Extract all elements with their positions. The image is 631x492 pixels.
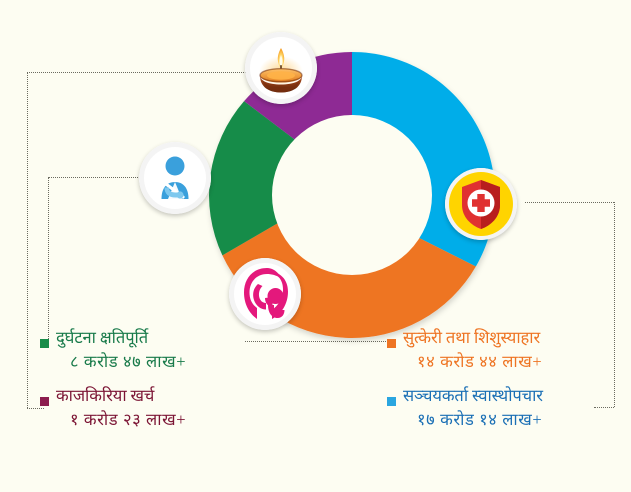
infographic-root: दुर्घटना क्षतिपूर्ति ८ करोड ४७ लाख+ काजक… — [0, 0, 631, 492]
health-shield-cross-icon — [445, 168, 517, 240]
legend-bullet-maternity — [387, 339, 396, 348]
legend-value-maternity: १४ करोड ४४ लाख+ — [403, 354, 542, 371]
health-shield-badge[interactable] — [445, 168, 517, 240]
injured-worker-badge[interactable] — [139, 142, 211, 214]
mother-and-child-icon — [229, 258, 301, 330]
legend-text-maternity: सुत्केरी तथा शिशुस्याहार १४ करोड ४४ लाख+ — [403, 330, 542, 370]
legend-bullet-funeral — [40, 397, 49, 406]
legend-text-accident: दुर्घटना क्षतिपूर्ति ८ करोड ४७ लाख+ — [56, 330, 186, 370]
legend-item-funeral[interactable]: काजकिरिया खर्च १ करोड २३ लाख+ — [40, 388, 186, 428]
legend-item-accident[interactable]: दुर्घटना क्षतिपूर्ति ८ करोड ४७ लाख+ — [40, 330, 186, 370]
legend-text-health: सञ्चयकर्ता स्वास्थोपचार १७ करोड १४ लाख+ — [403, 388, 543, 428]
legend-value-health: १७ करोड १४ लाख+ — [403, 412, 543, 429]
legend-value-accident: ८ करोड ४७ लाख+ — [56, 354, 186, 371]
diya-lamp-icon — [245, 32, 317, 104]
legend-text-funeral: काजकिरिया खर्च १ करोड २३ लाख+ — [56, 388, 186, 428]
legend-value-funeral: १ करोड २३ लाख+ — [56, 412, 186, 429]
legend-left: दुर्घटना क्षतिपूर्ति ८ करोड ४७ लाख+ काजक… — [40, 330, 186, 434]
mother-child-badge[interactable] — [229, 258, 301, 330]
diya-badge[interactable] — [245, 32, 317, 104]
legend-item-health[interactable]: सञ्चयकर्ता स्वास्थोपचार १७ करोड १४ लाख+ — [387, 388, 543, 428]
legend-item-maternity[interactable]: सुत्केरी तथा शिशुस्याहार १४ करोड ४४ लाख+ — [387, 330, 543, 370]
injured-worker-icon — [139, 142, 211, 214]
legend-title-funeral: काजकिरिया खर्च — [56, 388, 186, 405]
legend-right: सुत्केरी तथा शिशुस्याहार १४ करोड ४४ लाख+… — [387, 330, 543, 434]
legend-title-accident: दुर्घटना क्षतिपूर्ति — [56, 330, 186, 347]
legend-bullet-health — [387, 397, 396, 406]
legend-bullet-accident — [40, 339, 49, 348]
legend-title-health: सञ्चयकर्ता स्वास्थोपचार — [403, 388, 543, 405]
donut-hole — [272, 115, 432, 275]
legend-title-maternity: सुत्केरी तथा शिशुस्याहार — [403, 330, 542, 347]
